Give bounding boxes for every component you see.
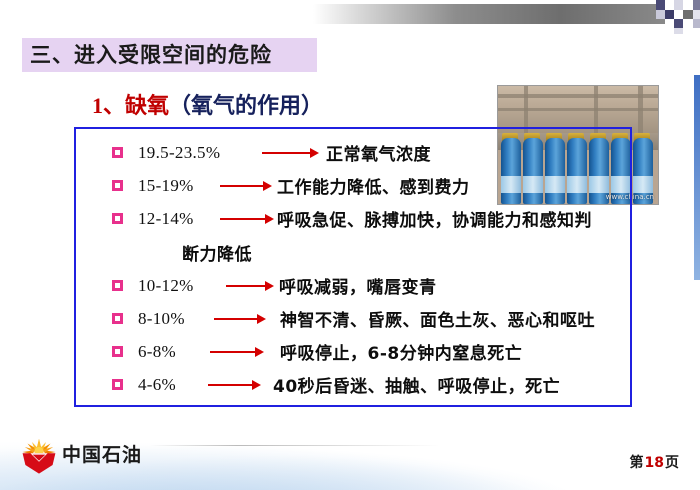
page-title: 三、进入受限空间的危险 xyxy=(30,40,320,70)
effect-text-continued: 断力降低 xyxy=(182,240,252,265)
list-item: 4-6% 40秒后昏迷、抽触、呼吸停止，死亡 xyxy=(74,368,632,401)
subtitle-number: 1、 xyxy=(92,93,125,118)
oxygen-range: 10-12% xyxy=(138,276,194,296)
oxygen-range: 19.5-23.5% xyxy=(138,143,220,163)
list-item: 15-19% 工作能力降低、感到费力 xyxy=(74,169,632,202)
section-subtitle: 1、缺氧（氧气的作用） xyxy=(92,88,323,120)
square-bullet-icon xyxy=(112,147,123,158)
list-item: 6-8% 呼吸停止，6-8分钟内窒息死亡 xyxy=(74,335,632,368)
oxygen-range: 15-19% xyxy=(138,176,194,196)
list-item: 8-10% 神智不清、昏厥、面色土灰、恶心和呕吐 xyxy=(74,302,632,335)
page-suffix: 页 xyxy=(665,455,679,471)
square-bullet-icon xyxy=(112,213,123,224)
page-number: 第18页 xyxy=(630,452,679,472)
oxygen-level-list: 19.5-23.5% 正常氧气浓度 15-19% 工作能力降低、感到费力 12-… xyxy=(74,127,632,407)
square-bullet-icon xyxy=(112,346,123,357)
effect-text: 呼吸急促、脉搏加快，协调能力和感知判 xyxy=(277,206,592,231)
list-item-continuation: 断力降低 xyxy=(74,235,632,269)
top-gray-bar xyxy=(313,4,688,24)
list-item: 19.5-23.5% 正常氧气浓度 xyxy=(74,136,632,169)
list-item: 10-12% 呼吸减弱，嘴唇变青 xyxy=(74,269,632,302)
effect-text: 呼吸停止，6-8分钟内窒息死亡 xyxy=(280,339,522,364)
effect-text: 神智不清、昏厥、面色土灰、恶心和呕吐 xyxy=(280,306,595,331)
oxygen-range: 6-8% xyxy=(138,342,176,362)
footer-divider-line xyxy=(150,445,440,446)
subtitle-keyword: 缺氧 xyxy=(125,93,169,118)
brand-name: 中国石油 xyxy=(62,440,142,467)
petrochina-logo-icon xyxy=(19,437,59,475)
square-bullet-icon xyxy=(112,313,123,324)
list-item: 12-14% 呼吸急促、脉搏加快，协调能力和感知判 xyxy=(74,202,632,235)
subtitle-paren: （氧气的作用） xyxy=(169,93,323,118)
effect-text: 工作能力降低、感到费力 xyxy=(277,173,470,198)
page-number-value: 18 xyxy=(644,455,665,471)
page-prefix: 第 xyxy=(630,455,644,471)
effect-text: 正常氧气浓度 xyxy=(326,140,431,165)
oxygen-range: 12-14% xyxy=(138,209,194,229)
effect-text: 40秒后昏迷、抽触、呼吸停止，死亡 xyxy=(273,372,560,397)
square-bullet-icon xyxy=(112,180,123,191)
square-bullet-icon xyxy=(112,280,123,291)
checkerboard-decoration xyxy=(652,0,700,34)
slide-canvas: 三、进入受限空间的危险 1、缺氧（氧气的作用） www.china.cn xyxy=(0,0,700,490)
oxygen-range: 4-6% xyxy=(138,375,176,395)
square-bullet-icon xyxy=(112,379,123,390)
effect-text: 呼吸减弱，嘴唇变青 xyxy=(279,273,437,298)
oxygen-range: 8-10% xyxy=(138,309,185,329)
right-edge-accent xyxy=(694,75,700,280)
